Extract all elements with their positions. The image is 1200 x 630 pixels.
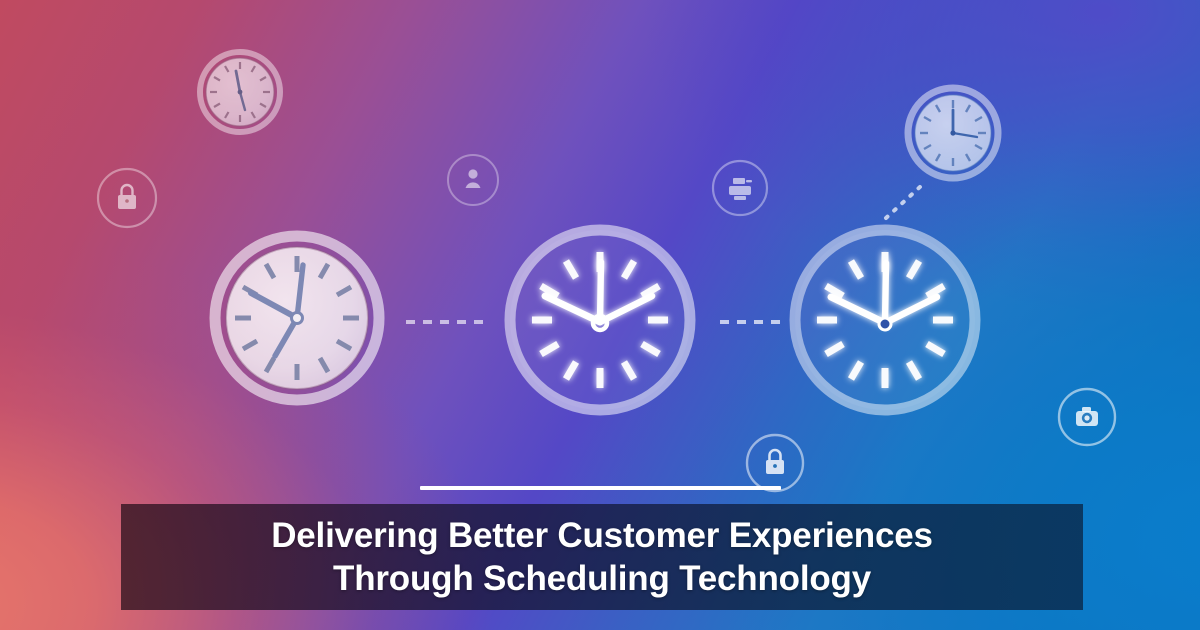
banner-canvas: Delivering Better Customer Experiences T… bbox=[0, 0, 1200, 630]
headline-line-1: Delivering Better Customer Experiences bbox=[271, 514, 933, 557]
headline-band: Delivering Better Customer Experiences T… bbox=[121, 504, 1083, 610]
headline-line-2: Through Scheduling Technology bbox=[333, 557, 871, 600]
headline-divider bbox=[420, 486, 781, 490]
